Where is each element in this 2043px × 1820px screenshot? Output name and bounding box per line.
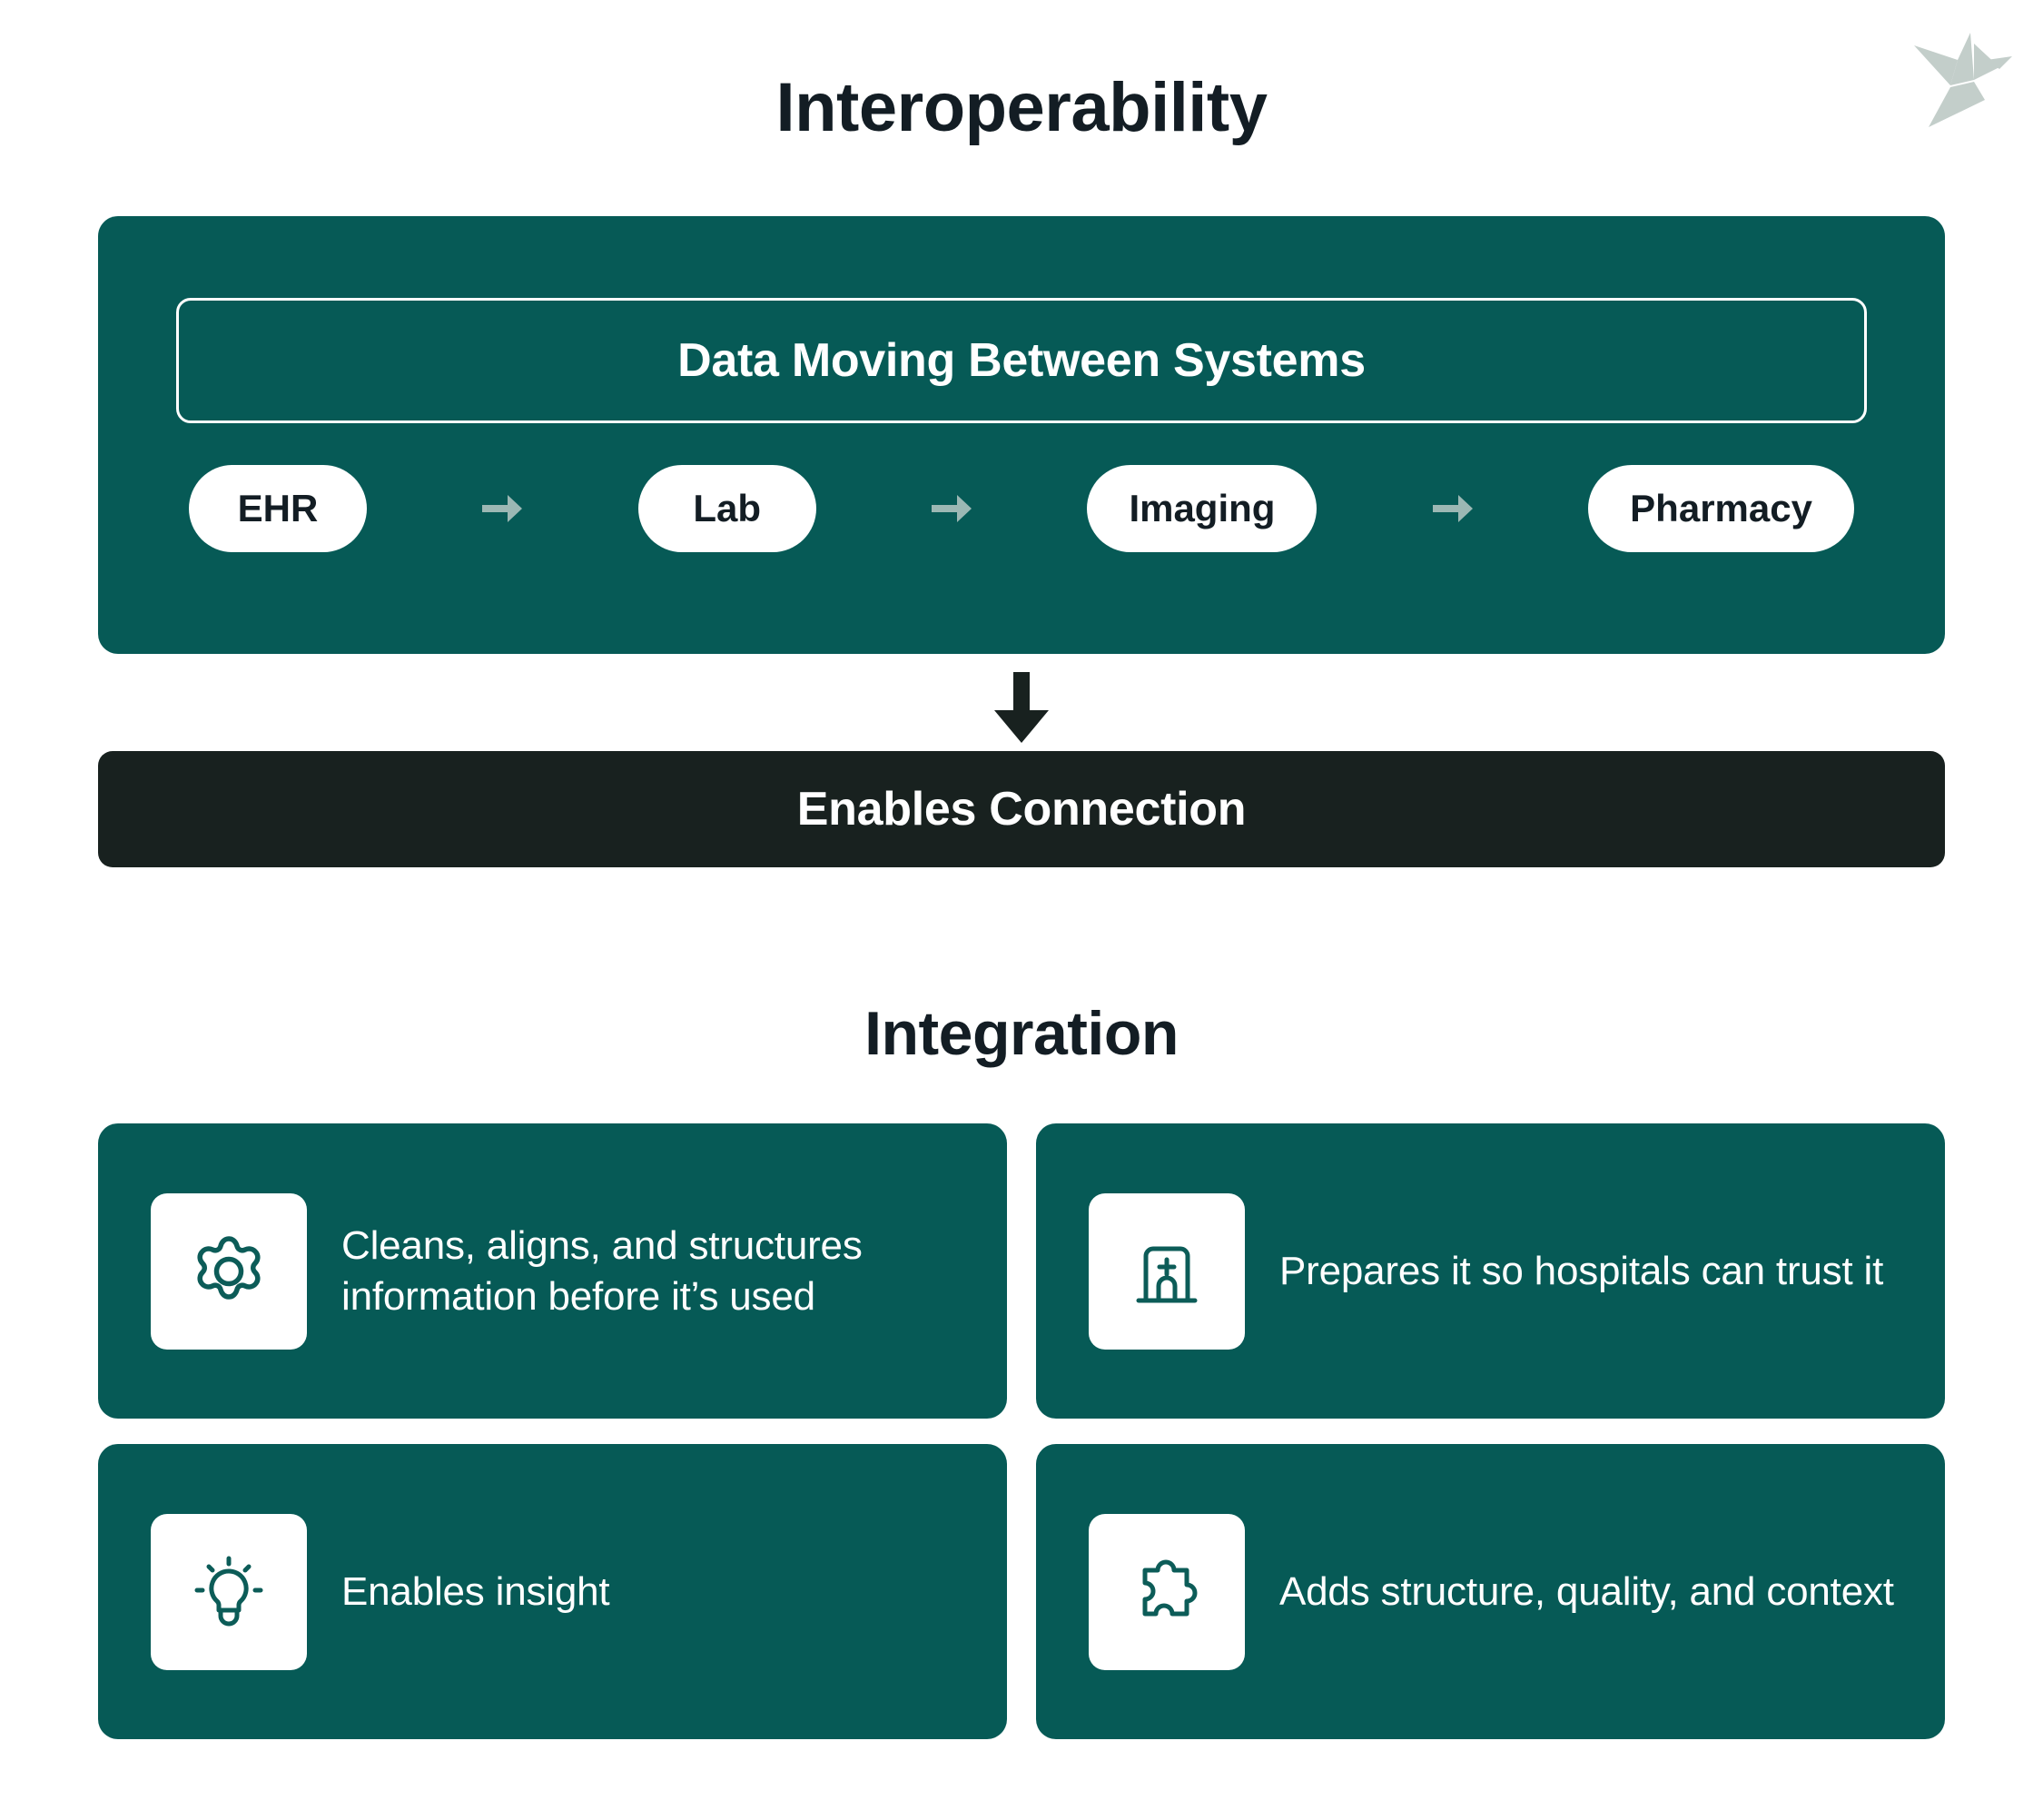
arrow-right-icon [477,483,528,534]
arrow-right-icon [1427,483,1478,534]
system-pill-ehr[interactable]: EHR [189,465,367,552]
integration-card-text: Adds structure, quality, and context [1279,1567,1894,1617]
system-pill-pharmacy[interactable]: Pharmacy [1588,465,1854,552]
lightbulb-icon [151,1514,307,1670]
integration-card[interactable]: Cleans, aligns, and structures informati… [98,1123,1007,1419]
system-pill-label: Imaging [1129,487,1275,530]
data-moving-box: Data Moving Between Systems [176,298,1867,423]
integration-card-grid: Cleans, aligns, and structures informati… [98,1123,1945,1739]
integration-card-text: Prepares it so hospitals can trust it [1279,1246,1883,1296]
data-moving-label: Data Moving Between Systems [677,333,1366,388]
integration-card[interactable]: Prepares it so hospitals can trust it [1036,1123,1945,1419]
puzzle-piece-icon [1089,1514,1245,1670]
arrow-right-icon [926,483,977,534]
system-pill-label: Pharmacy [1630,487,1812,530]
integration-card[interactable]: Adds structure, quality, and context [1036,1444,1945,1739]
system-pill-imaging[interactable]: Imaging [1087,465,1317,552]
system-pill-label: Lab [693,487,761,530]
infographic-page: Interoperability Data Moving Between Sys… [0,0,2043,1820]
page-title-integration: Integration [0,997,2043,1070]
interoperability-panel: Data Moving Between Systems [98,216,1945,654]
down-arrow-icon [985,672,1058,743]
system-pill-label: EHR [238,487,319,530]
integration-card-text: Enables insight [341,1567,609,1617]
integration-card[interactable]: Enables insight [98,1444,1007,1739]
integration-card-text: Cleans, aligns, and structures informati… [341,1221,963,1321]
hospital-icon [1089,1193,1245,1350]
page-title-interoperability: Interoperability [0,69,2043,147]
enables-connection-label: Enables Connection [797,782,1246,836]
system-pill-lab[interactable]: Lab [638,465,816,552]
gear-icon [151,1193,307,1350]
enables-connection-bar: Enables Connection [98,751,1945,867]
